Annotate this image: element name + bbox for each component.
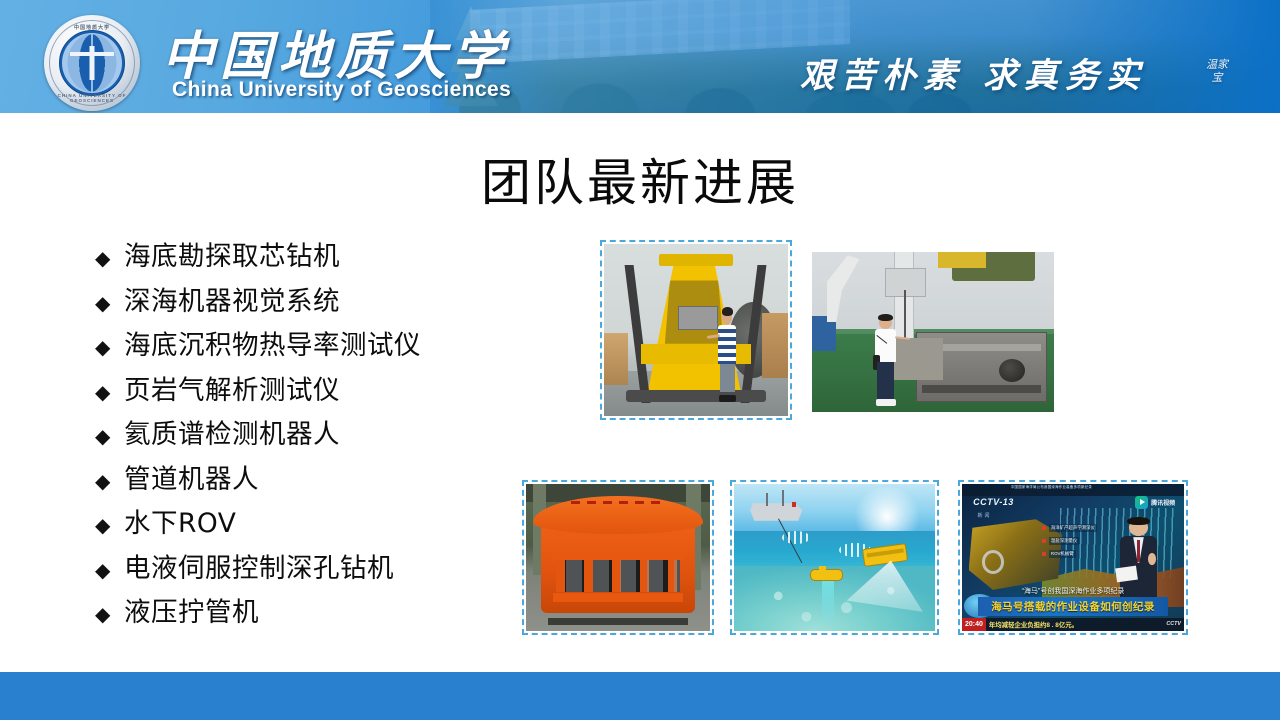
rov-thruster-ring [982, 550, 1004, 574]
list-item: ◆ 液压拧管机 [95, 590, 565, 635]
photo-content [526, 484, 710, 631]
list-item: ◆ 海底沉积物热导率测试仪 [95, 323, 565, 368]
person-shoes [719, 395, 736, 402]
broadcast-subtitle: “海马”号创我国深海作业多项纪录 [962, 586, 1184, 596]
diamond-bullet-icon: ◆ [95, 383, 124, 403]
callout-label: ROV机械臂 [1049, 550, 1076, 558]
diamond-bullet-icon: ◆ [95, 561, 124, 581]
deck-crane-cable [904, 290, 906, 338]
photo-cctv-news-screenshot: 中国国家海洋局公布我国深海作业装备多项新纪录 CCTV-13 新闻 腾讯视频 海… [958, 480, 1188, 635]
support-feet [548, 618, 688, 625]
list-item: ◆ 管道机器人 [95, 457, 565, 502]
list-item-label: 液压拧管机 [124, 590, 259, 629]
list-item: ◆ 氦质谱检测机器人 [95, 412, 565, 457]
equipment-callout-list: 海洋矿产超声学测深仪 温盐深测量仪 ROV机械臂 [1042, 524, 1097, 558]
seal-globe-icon [59, 30, 125, 96]
list-item: ◆ 深海机器视觉系统 [95, 279, 565, 324]
rig-top-beam [659, 254, 733, 266]
list-item-label: 氦质谱检测机器人 [124, 412, 340, 451]
seal-text-en: CHINA UNIVERSITY OF GEOSCIENCES [44, 93, 140, 103]
person-bag-strap [877, 335, 888, 344]
callout-label: 海洋矿产超声学测深仪 [1049, 524, 1097, 532]
callout-bullet-icon [1042, 526, 1046, 530]
broadcast-headline-bar: 海马号搭载的作业设备如何创纪录 [978, 597, 1169, 616]
photo-seafloor-coring-rig [600, 240, 792, 420]
callout-label: 温盐深测量仪 [1049, 537, 1079, 545]
ticker-clock: 20:40 [962, 618, 986, 631]
photo-content [604, 244, 788, 416]
ticker-cctv-logo: CCTV [1166, 621, 1184, 627]
person-shorts [720, 364, 735, 392]
list-item-label: 管道机器人 [124, 457, 259, 496]
diamond-bullet-icon: ◆ [95, 605, 124, 625]
list-item: ◆ 页岩气解析测试仪 [95, 368, 565, 413]
towed-sonar-fish [810, 569, 842, 581]
person-trousers [877, 362, 894, 400]
anchor-script-paper [1115, 566, 1138, 582]
callout-item: 温盐深测量仪 [1042, 537, 1097, 545]
red-chinese-label [571, 501, 666, 504]
footer-bar [0, 672, 1280, 720]
list-item: ◆ 海底勘探取芯钻机 [95, 234, 565, 279]
callout-item: ROV机械臂 [1042, 550, 1097, 558]
diamond-bullet-icon: ◆ [95, 427, 124, 447]
university-motto: 艰苦朴素 求真务实 [800, 48, 1147, 97]
cctv-channel-sub: 新闻 [978, 512, 992, 519]
callout-bullet-icon [1042, 552, 1046, 556]
broadcast-headline: 海马号搭载的作业设备如何创纪录 [991, 599, 1155, 614]
ship-mast [766, 493, 768, 506]
person-head [722, 309, 732, 325]
slide-root: 中国地质大学 CHINA UNIVERSITY OF GEOSCIENCES 中… [0, 0, 1280, 720]
person-head [879, 316, 892, 329]
person-standing [718, 309, 736, 402]
tencent-video-watermark: 腾讯视频 [1135, 496, 1175, 509]
ticker-text: 年均减轻企业负担约8 . 8亿元。 [986, 620, 1166, 629]
list-item-label: 水下ROV [124, 501, 236, 540]
diamond-bullet-icon: ◆ [95, 516, 124, 536]
university-seal-icon: 中国地质大学 CHINA UNIVERSITY OF GEOSCIENCES [44, 15, 140, 111]
rig-base-skid [626, 390, 766, 402]
list-item-label: 电液伺服控制深孔钻机 [124, 546, 394, 585]
rov-winch-drum [999, 359, 1025, 382]
anchor-hand [1148, 553, 1156, 565]
list-item-label: 海底勘探取芯钻机 [124, 234, 340, 273]
diamond-bullet-icon: ◆ [95, 294, 124, 314]
ship-flag [792, 502, 796, 507]
cctv-channel-logo: CCTV-13 [973, 497, 1014, 507]
list-item-label: 页岩气解析测试仪 [124, 368, 340, 407]
list-item-label: 深海机器视觉系统 [124, 279, 340, 318]
photo-content: 中国国家海洋局公布我国深海作业装备多项新纪录 CCTV-13 新闻 腾讯视频 海… [962, 484, 1184, 631]
callout-bullet-icon [1042, 539, 1046, 543]
callout-item: 海洋矿产超声学测深仪 [1042, 524, 1097, 532]
motto-signature: 温家宝 [1206, 58, 1228, 84]
list-item: ◆ 电液伺服控制深孔钻机 [95, 546, 565, 591]
wooden-crate-left [604, 333, 628, 385]
yellow-frame-module [938, 252, 986, 268]
person-striped-shirt [718, 325, 736, 364]
person-standing [875, 316, 897, 406]
anchor-tie [1137, 540, 1140, 562]
deck-grey-box [894, 338, 942, 380]
list-item: ◆ 水下ROV [95, 501, 565, 546]
bullet-list: ◆ 海底勘探取芯钻机 ◆ 深海机器视觉系统 ◆ 海底沉积物热导率测试仪 ◆ 页岩… [95, 234, 565, 635]
wooden-crate-right [762, 313, 788, 378]
ship-mast-secondary [782, 490, 784, 506]
sonar-beam-vertical [822, 581, 834, 622]
diamond-bullet-icon: ◆ [95, 338, 124, 358]
internal-machinery-window [556, 557, 680, 592]
rig-control-box [678, 306, 718, 330]
orange-upper-band [553, 555, 683, 560]
broadcast-top-strip: 中国国家海洋局公布我国深海作业装备多项新纪录 [962, 484, 1184, 496]
photo-orange-subsea-module [522, 480, 714, 635]
top-strip-text: 中国国家海洋局公布我国深海作业装备多项新纪录 [1011, 484, 1092, 489]
anchor-head [1129, 519, 1149, 536]
orange-lower-band [553, 593, 683, 602]
photo-content [734, 484, 935, 631]
photo-underwater-survey-diagram [730, 480, 939, 635]
broadcast-ticker: 20:40 年均减轻企业负担约8 . 8亿元。 CCTV [962, 618, 1184, 631]
page-title: 团队最新进展 [0, 143, 1280, 215]
person-shoes [876, 399, 896, 405]
photo-content [812, 252, 1054, 412]
play-icon [1135, 496, 1148, 509]
tencent-video-label: 腾讯视频 [1151, 498, 1175, 507]
diamond-bullet-icon: ◆ [95, 249, 124, 269]
university-name-en: China University of Geosciences [172, 78, 511, 102]
header-banner: 中国地质大学 CHINA UNIVERSITY OF GEOSCIENCES 中… [0, 0, 1280, 113]
list-item-label: 海底沉积物热导率测试仪 [124, 323, 421, 362]
photo-ship-deck-equipment [812, 252, 1054, 412]
diamond-bullet-icon: ◆ [95, 472, 124, 492]
